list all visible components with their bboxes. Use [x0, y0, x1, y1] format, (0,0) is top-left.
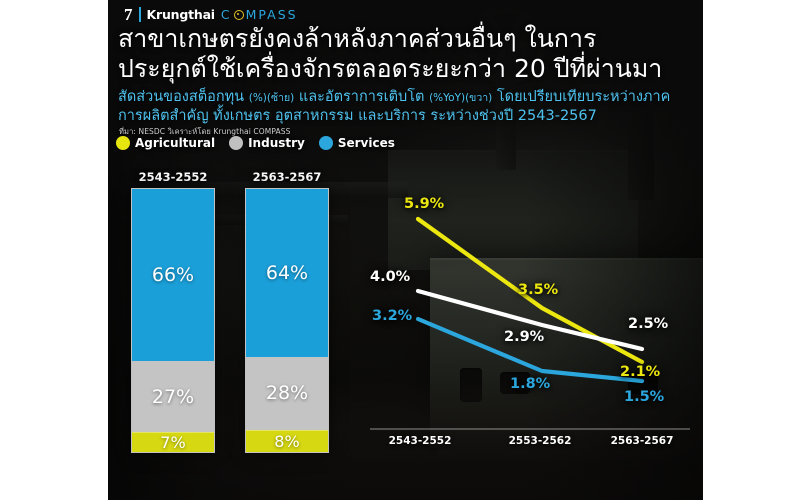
point-label-industry-2563: 2.5% [628, 316, 668, 332]
legend-item-industry[interactable]: Industry [229, 136, 305, 150]
bar-segment-industry: 28% [246, 357, 328, 430]
title-line-2: ประยุกต์ใช้เครื่องจักรตลอดระยะกว่า 20 ปี… [118, 54, 698, 84]
bar-column: 66% 27% 7% [131, 188, 215, 453]
chart-legend: Agricultural Industry Services [116, 136, 395, 150]
growth-line-chart[interactable]: 5.9% 3.5% 2.1% 4.0% 2.9% 2.5% 3.2% 1.8% … [370, 186, 690, 456]
page-subtitle: สัดส่วนของสต็อกทุน (%)(ซ้าย) และอัตราการ… [118, 88, 698, 127]
legend-item-services[interactable]: Services [319, 136, 395, 150]
logo-krungthai: Krungthai [147, 7, 215, 22]
subtitle-line-2: การผลิตสำคัญ ทั้งเกษตร อุตสาหกรรม และบริ… [118, 107, 698, 126]
logo-compass-post: MPASS [246, 7, 298, 22]
bar-segment-industry: 27% [132, 361, 214, 432]
x-axis-tick-2553-2562: 2553-2562 [490, 435, 590, 447]
point-label-agricultural-2563: 2.1% [620, 364, 660, 380]
subtitle-line-1: สัดส่วนของสต็อกทุน (%)(ซ้าย) และอัตราการ… [118, 88, 698, 107]
legend-swatch-agricultural-icon [116, 136, 130, 150]
legend-swatch-services-icon [319, 136, 333, 150]
point-label-agricultural-2553: 3.5% [518, 282, 558, 298]
x-axis-tick-2563-2567: 2563-2567 [592, 435, 692, 447]
logo-compass-pre: C [221, 7, 232, 22]
legend-swatch-industry-icon [229, 136, 243, 150]
page-title: สาขาเกษตรยังคงล้าหลังภาคส่วนอื่นๆ ในการ … [118, 24, 698, 84]
subtitle-unit-right: (%YoY)(ขวา) [429, 92, 492, 104]
point-label-services-2563: 1.5% [624, 389, 664, 405]
subtitle-seg-1: สัดส่วนของสต็อกทุน [118, 89, 249, 105]
stacked-bar-2563-2567[interactable]: 2563-2567 64% 28% 8% [245, 170, 329, 453]
point-label-services-2553: 1.8% [510, 376, 550, 392]
point-label-agricultural-2543: 5.9% [404, 196, 444, 212]
bar-category-label: 2543-2552 [131, 170, 215, 184]
subtitle-unit-left: (%)(ซ้าย) [249, 92, 295, 104]
legend-item-agricultural[interactable]: Agricultural [116, 136, 215, 150]
left-margin-mask [0, 0, 108, 500]
bar-segment-agricultural: 7% [132, 432, 214, 452]
point-label-services-2543: 3.2% [372, 308, 412, 324]
point-label-industry-2553: 2.9% [504, 329, 544, 345]
title-line-1: สาขาเกษตรยังคงล้าหลังภาคส่วนอื่นๆ ในการ [118, 24, 698, 54]
point-label-industry-2543: 4.0% [370, 269, 410, 285]
logo-compass: C MPASS [221, 7, 298, 22]
bar-segment-services: 64% [246, 189, 328, 357]
infographic-canvas: 7 Krungthai C MPASS สาขาเกษตรยังคงล้าหลั… [0, 0, 811, 500]
stacked-bar-2543-2552[interactable]: 2543-2552 66% 27% 7% [131, 170, 215, 453]
subtitle-seg-3: และอัตราการเติบโต [294, 89, 429, 105]
bar-segment-agricultural: 8% [246, 430, 328, 452]
page-number: 7 [124, 6, 133, 23]
brand-header: 7 Krungthai C MPASS [124, 6, 298, 23]
right-margin-mask [703, 0, 811, 500]
bar-column: 64% 28% 8% [245, 188, 329, 453]
x-axis-tick-2543-2552: 2543-2552 [370, 435, 470, 447]
legend-label-industry: Industry [248, 136, 305, 150]
bar-category-label: 2563-2567 [245, 170, 329, 184]
subtitle-seg-5: โดยเปรียบเทียบระหว่างภาค [492, 89, 670, 105]
compass-dial-icon [234, 10, 244, 20]
legend-label-agricultural: Agricultural [135, 136, 215, 150]
legend-label-services: Services [338, 136, 395, 150]
logo-divider [139, 7, 141, 22]
bar-segment-services: 66% [132, 189, 214, 361]
